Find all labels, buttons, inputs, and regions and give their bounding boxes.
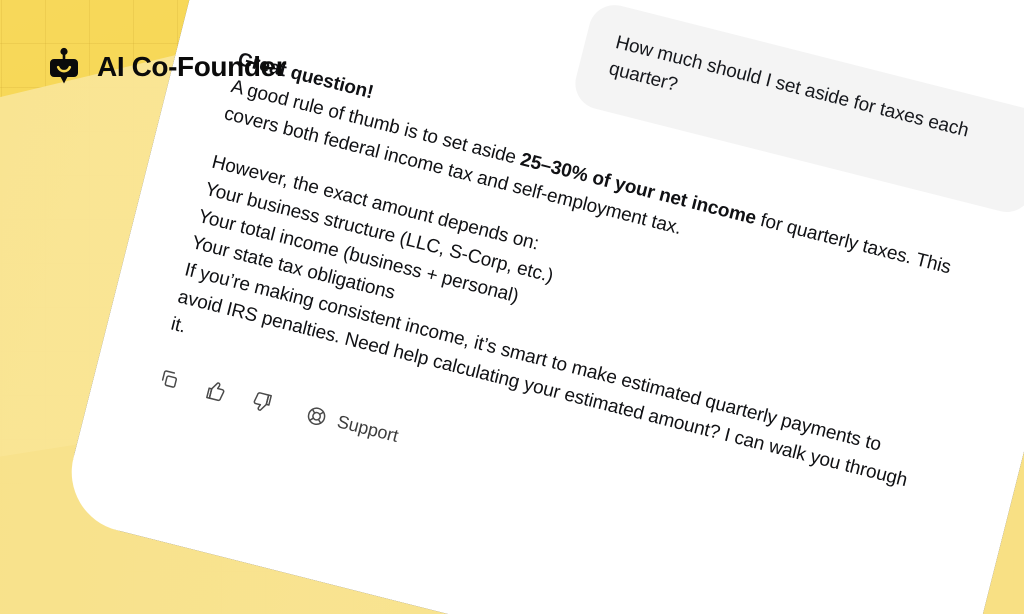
robot-chat-bubble-icon [44,47,84,87]
thumbs-down-icon[interactable] [248,389,275,416]
brand-logo[interactable]: AI Co-Founder [44,47,286,87]
thumbs-up-icon[interactable] [202,377,229,404]
support-button[interactable]: Support [302,400,401,449]
device-screen: How much should I set aside for taxes ea… [59,0,1024,614]
copy-icon[interactable] [155,365,182,392]
brand-name: AI Co-Founder [97,53,286,81]
chat-thread: How much should I set aside for taxes ea… [59,0,1024,614]
lifebuoy-icon [303,403,330,430]
screenshot-stage: AI Co-Founder How much should I set asid… [0,0,1024,614]
support-label: Support [334,409,401,450]
tilted-device-mockup: How much should I set aside for taxes ea… [59,0,1024,614]
